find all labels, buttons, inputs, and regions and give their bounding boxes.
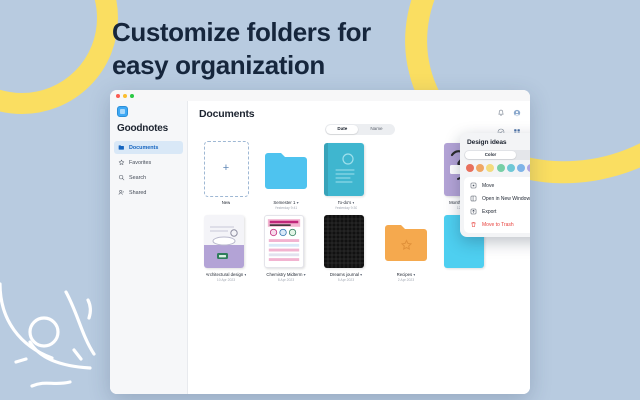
goodnotes-logo-icon: [117, 106, 128, 117]
sidebar-item-documents[interactable]: Documents: [114, 141, 183, 154]
notebook-cover: [324, 215, 364, 268]
folder-icon: [384, 223, 429, 263]
document-thumbnail: [384, 213, 429, 269]
notebook-spine: [324, 143, 328, 196]
folder-context-menu: Design ideas × Color Icon: [460, 133, 530, 237]
sidebar-item-label: Favorites: [129, 160, 151, 166]
notebook-artwork: [324, 143, 364, 196]
sidebar-item-favorites[interactable]: Favorites: [114, 156, 183, 169]
sidebar-item-shared[interactable]: Shared: [114, 186, 183, 199]
notebook-cover: [204, 215, 244, 268]
shared-icon: [118, 189, 125, 196]
document-card-new[interactable]: + New: [199, 141, 253, 210]
document-thumbnail: [204, 213, 249, 269]
color-swatch-row: [464, 164, 530, 177]
document-thumbnail: [384, 141, 429, 197]
sidebar-item-search[interactable]: Search: [114, 171, 183, 184]
documents-heading: Documents: [199, 108, 254, 120]
headline-line-1: Customize folders for: [112, 16, 532, 49]
move-icon: [470, 182, 477, 189]
sort-segment-date[interactable]: Date: [326, 125, 358, 134]
menu-item-export[interactable]: Export: [464, 205, 530, 218]
document-card-folder-selected[interactable]: [379, 141, 433, 210]
chevron-down-icon[interactable]: ▾: [244, 272, 246, 277]
popup-header: Design ideas ×: [464, 137, 530, 150]
document-card-notebook[interactable]: Dreams journal ▾ 5 Apr 2023: [319, 213, 373, 282]
zoom-window-button[interactable]: [130, 94, 134, 98]
sidebar: Goodnotes Documents Favorites: [110, 101, 188, 394]
color-swatch[interactable]: [517, 164, 525, 172]
document-card-notebook[interactable]: Architectural design ▾ 10 Apr 2023: [199, 213, 253, 282]
promo-screenshot: Customize folders for easy organization …: [0, 0, 640, 400]
plus-icon[interactable]: +: [204, 141, 249, 197]
sort-segment-name[interactable]: Name: [359, 125, 393, 134]
folder-icon: [264, 151, 309, 191]
document-label: To-do's ▾: [338, 200, 355, 205]
popup-tabs[interactable]: Color Icon: [464, 150, 530, 160]
document-subtitle: Yesterday 9:41: [275, 206, 298, 210]
document-label: Architectural design ▾: [206, 272, 247, 277]
document-label: Recipes ▾: [397, 272, 416, 277]
yellow-ring-decoration: [0, 0, 118, 114]
color-swatch[interactable]: [486, 164, 494, 172]
account-icon[interactable]: [513, 109, 521, 117]
search-icon: [118, 174, 125, 181]
document-label: New: [222, 200, 231, 205]
app-name: Goodnotes: [117, 123, 187, 134]
document-label: Chemistry Midterm ▾: [266, 272, 305, 277]
menu-item-open-in-new-window[interactable]: Open in New Window: [464, 192, 530, 205]
sidebar-item-label: Documents: [129, 145, 158, 151]
document-name: To-do's: [338, 200, 352, 205]
header-icon-group: [497, 108, 521, 117]
notebook-artwork: [265, 216, 303, 267]
document-card-notebook[interactable]: Chemistry Midterm ▾ 8 Apr 2023: [259, 213, 313, 282]
page-title: Customize folders for easy organization: [112, 16, 532, 83]
color-swatch[interactable]: [476, 164, 484, 172]
document-thumbnail: [324, 141, 369, 197]
menu-item-label: Export: [482, 209, 496, 215]
new-window-icon: [470, 195, 477, 202]
notebook-cover: [264, 215, 304, 268]
document-card-notebook[interactable]: To-do's ▾ Yesterday 9:30: [319, 141, 373, 210]
sidebar-item-label: Search: [129, 175, 146, 181]
notebook-artwork: [204, 215, 244, 268]
chevron-down-icon[interactable]: ▾: [413, 272, 415, 277]
popup-title: Design ideas: [467, 139, 506, 146]
document-subtitle: 5 Apr 2023: [338, 278, 354, 282]
sort-segmented-control[interactable]: Date Name: [325, 124, 394, 135]
chevron-down-icon[interactable]: ▾: [352, 200, 354, 205]
app-window: Goodnotes Documents Favorites: [110, 90, 530, 394]
export-icon: [470, 208, 477, 215]
chevron-down-icon[interactable]: ▾: [297, 200, 299, 205]
menu-item-label: Move to Trash: [482, 222, 514, 228]
color-swatch[interactable]: [527, 164, 530, 172]
sidebar-item-label: Shared: [129, 190, 146, 196]
close-window-button[interactable]: [116, 94, 120, 98]
bell-icon[interactable]: [497, 109, 505, 117]
document-thumbnail: [324, 213, 369, 269]
chevron-down-icon[interactable]: ▾: [360, 272, 362, 277]
menu-item-move-to-trash[interactable]: Move to Trash: [464, 218, 530, 231]
window-body: Goodnotes Documents Favorites: [110, 101, 530, 394]
notebook-grid-artwork: [324, 215, 364, 268]
document-label: Dreams journal ▾: [330, 272, 362, 277]
window-titlebar: [110, 90, 530, 101]
document-label: Semester 1 ▾: [273, 200, 298, 205]
headline-line-2: easy organization: [112, 49, 532, 82]
document-card-folder[interactable]: Semester 1 ▾ Yesterday 9:41: [259, 141, 313, 210]
document-name: Chemistry Midterm: [266, 272, 302, 277]
document-subtitle: Yesterday 9:30: [335, 206, 358, 210]
popup-menu-list: Move Open in New Window: [464, 177, 530, 233]
document-subtitle: 2 Apr 2023: [398, 278, 414, 282]
minimize-window-button[interactable]: [123, 94, 127, 98]
document-card-folder[interactable]: Recipes ▾ 2 Apr 2023: [379, 213, 433, 282]
document-name: Recipes: [397, 272, 413, 277]
main-header: Documents: [199, 108, 521, 120]
trash-icon: [470, 221, 477, 228]
document-thumbnail: [264, 141, 309, 197]
folder-icon: [118, 144, 125, 151]
star-icon: [118, 159, 125, 166]
menu-item-label: Open in New Window: [482, 196, 530, 202]
menu-item-label: Move: [482, 183, 494, 189]
color-swatch[interactable]: [507, 164, 515, 172]
doodle-scribble-decoration: [0, 262, 114, 397]
document-thumbnail: [264, 213, 309, 269]
document-subtitle: 8 Apr 2023: [278, 278, 294, 282]
main-content: Documents: [188, 101, 530, 394]
menu-item-move[interactable]: Move: [464, 179, 530, 192]
document-subtitle: 10 Apr 2023: [217, 278, 235, 282]
document-name: Semester 1: [273, 200, 295, 205]
color-swatch[interactable]: [497, 164, 505, 172]
chevron-down-icon[interactable]: ▾: [304, 272, 306, 277]
tab-icon[interactable]: Icon: [516, 151, 530, 159]
color-swatch[interactable]: [466, 164, 474, 172]
notebook-cover: [324, 143, 364, 196]
tab-color[interactable]: Color: [465, 151, 516, 159]
document-name: Dreams journal: [330, 272, 359, 277]
document-name: Architectural design: [206, 272, 244, 277]
